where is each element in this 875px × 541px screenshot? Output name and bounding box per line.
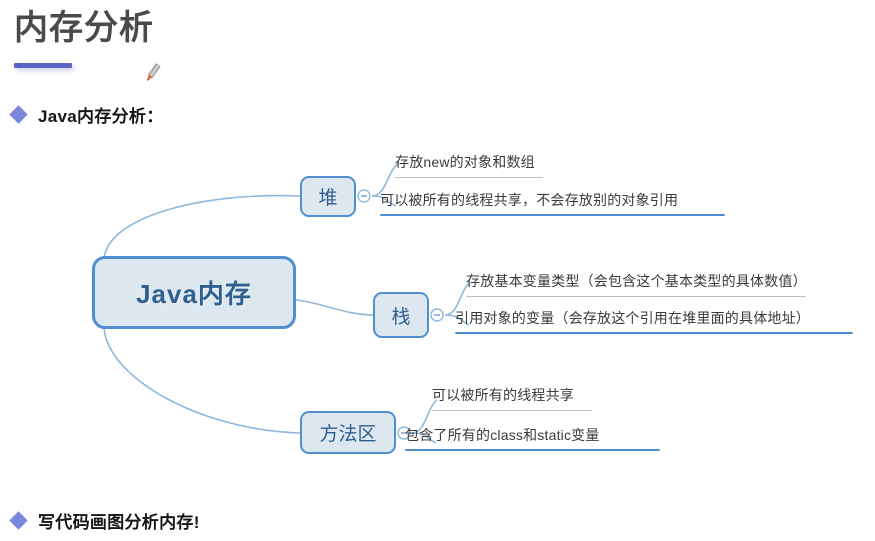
- title-underline-rule: [14, 63, 72, 68]
- mindmap-leaf-heap-1[interactable]: 存放new的对象和数组: [395, 152, 535, 175]
- mindmap-root-node-java-memory[interactable]: Java内存: [92, 256, 296, 329]
- pencil-cursor-icon: [143, 62, 161, 84]
- diamond-bullet-icon: [9, 105, 27, 123]
- page-title: 内存分析: [14, 6, 154, 50]
- mindmap-leaf-method-area-2[interactable]: 包含了所有的class和static变量: [405, 425, 600, 448]
- mindmap-node-method-area[interactable]: 方法区: [300, 411, 396, 454]
- bullet-item-java-memory-analysis: Java内存分析：: [12, 102, 164, 127]
- mindmap-leaf-stack-1[interactable]: 存放基本变量类型（会包含这个基本类型的具体数值）: [466, 271, 807, 294]
- leaf-underline: [466, 296, 806, 298]
- mindmap-leaf-heap-2[interactable]: 可以被所有的线程共享，不会存放别的对象引用: [380, 190, 678, 213]
- mindmap-leaf-stack-2[interactable]: 引用对象的变量（会存放这个引用在堆里面的具体地址）: [455, 308, 810, 331]
- collapse-toggle-stack: [431, 309, 443, 321]
- mindmap-diagram: Java内存 堆 栈 方法区 存放new的对象和数组 可以被所有的线程共享，不会…: [0, 130, 875, 475]
- bullet-label: 写代码画图分析内存!: [38, 508, 200, 533]
- leaf-underline: [432, 410, 592, 412]
- leaf-label: 可以被所有的线程共享: [432, 387, 574, 403]
- mindmap-node-heap[interactable]: 堆: [300, 176, 356, 217]
- leaf-label: 存放new的对象和数组: [395, 154, 535, 170]
- mindmap-leaf-method-area-1[interactable]: 可以被所有的线程共享: [432, 385, 574, 408]
- diamond-bullet-icon: [9, 511, 27, 529]
- collapse-toggle-heap: [358, 190, 370, 202]
- mindmap-node-stack[interactable]: 栈: [373, 292, 429, 338]
- leaf-label: 存放基本变量类型（会包含这个基本类型的具体数值）: [466, 273, 807, 289]
- leaf-underline: [380, 214, 725, 217]
- leaf-underline: [455, 332, 853, 335]
- leaf-label: 可以被所有的线程共享，不会存放别的对象引用: [380, 192, 678, 208]
- bullet-label: Java内存分析：: [38, 102, 164, 127]
- leaf-label: 包含了所有的class和static变量: [405, 427, 600, 443]
- leaf-underline: [405, 449, 660, 452]
- leaf-label: 引用对象的变量（会存放这个引用在堆里面的具体地址）: [455, 310, 810, 326]
- leaf-underline: [395, 177, 543, 179]
- bullet-item-write-code-draw-diagram: 写代码画图分析内存!: [12, 508, 200, 533]
